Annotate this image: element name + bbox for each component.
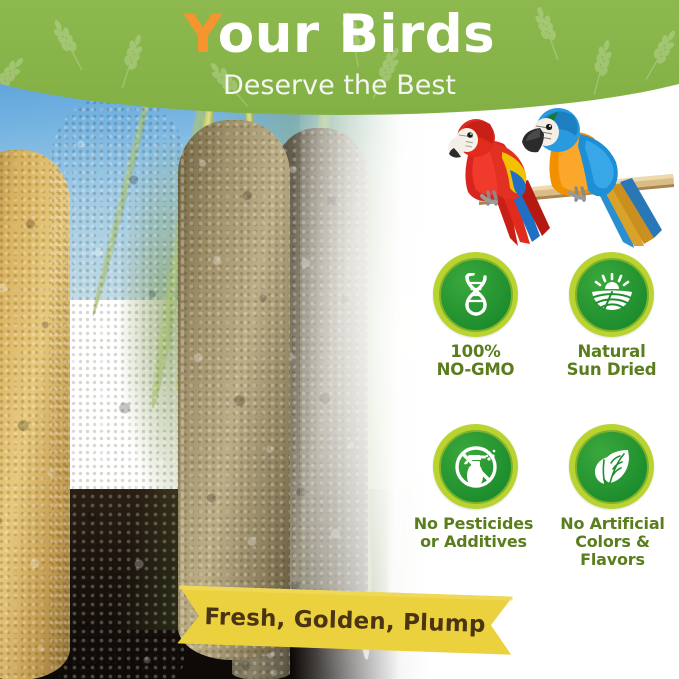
- page-title: Your Birds: [0, 8, 679, 61]
- badge-ring: [569, 424, 654, 509]
- dna-helix-icon: [456, 273, 496, 317]
- badge-no-gmo[interactable]: 100% NO-GMO: [408, 252, 543, 380]
- badge-label: No Pesticides or Additives: [404, 515, 543, 551]
- badge-disc: [439, 430, 513, 504]
- badge-no-artificial[interactable]: No Artificial Colors & Flavors: [544, 424, 679, 569]
- sun-over-field-icon: [589, 273, 635, 317]
- title-highlight-letter: Y: [184, 4, 218, 65]
- ribbon-text: Fresh, Golden, Plump: [177, 585, 513, 656]
- badge-disc: [575, 430, 649, 504]
- badge-label: Natural Sun Dried: [544, 343, 679, 380]
- badge-disc: [439, 258, 513, 332]
- title-rest: our Birds: [218, 4, 495, 65]
- badge-no-pesticides[interactable]: No Pesticides or Additives: [408, 424, 543, 551]
- two-leaves-icon: [590, 445, 634, 489]
- badge-sun-dried[interactable]: Natural Sun Dried: [544, 252, 679, 380]
- badge-disc: [575, 258, 649, 332]
- badge-ring: [433, 252, 518, 337]
- feature-badges: 100% NO-GMO: [408, 252, 679, 562]
- no-spray-bottle-icon: [453, 444, 499, 490]
- badge-ring: [433, 424, 518, 509]
- tagline-ribbon: Fresh, Golden, Plump: [177, 585, 513, 656]
- badge-label: No Artificial Colors & Flavors: [546, 515, 679, 569]
- macaw-pair-photo: [448, 96, 679, 256]
- product-marketing-image: Your Birds Deserve the Best: [0, 0, 679, 679]
- badge-label: 100% NO-GMO: [408, 343, 543, 380]
- badge-ring: [569, 252, 654, 337]
